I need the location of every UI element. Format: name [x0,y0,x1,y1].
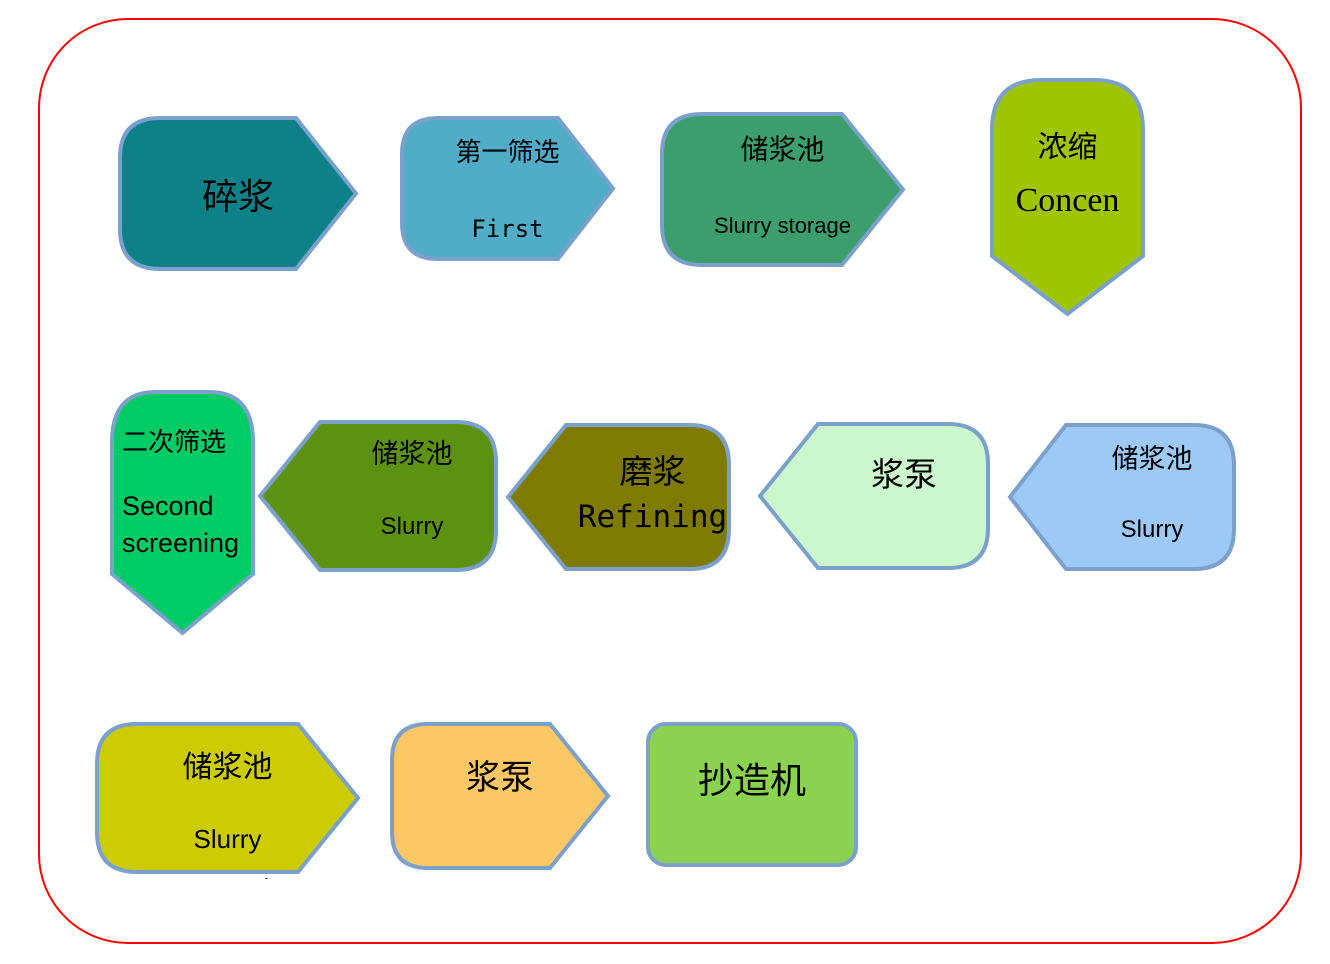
slurry-storage-4-shape [95,722,360,874]
node-second-screening[interactable]: 二次筛选 Second screening [110,390,255,635]
refining-shape [506,423,731,571]
node-slurry-storage-3[interactable]: 储浆池 Slurry [1008,423,1236,571]
paper-machine-shape [646,722,858,867]
second-screening-shape [110,390,255,635]
first-screening-shape [400,116,615,261]
node-slurry-storage-2[interactable]: 储浆池 Slurry [258,420,498,572]
pulping-shape [118,116,358,271]
node-slurry-storage-1[interactable]: 储浆池 Slurry storage [660,112,905,267]
pulp-pump-2-shape [390,722,610,870]
slurry-storage-1-shape [660,112,905,267]
node-pulp-pump-1[interactable]: 浆泵 [758,422,990,570]
node-refining[interactable]: 磨浆 Refining [506,423,731,571]
node-slurry-storage-4[interactable]: 储浆池 Slurry . [95,722,360,874]
node-first-screening[interactable]: 第一筛选 First [400,116,615,261]
slurry-storage-2-shape [258,420,498,572]
concentration-shape [990,78,1145,316]
node-pulping[interactable]: 碎浆 [118,116,358,271]
node-paper-machine[interactable]: 抄造机 [646,722,858,867]
diagram-canvas: 碎浆 第一筛选 First 储浆池 Slurry storage 浓缩 Conc… [0,0,1330,964]
pulp-pump-1-shape [758,422,990,570]
node-concentration[interactable]: 浓缩 Concen [990,78,1145,316]
slurry-storage-3-shape [1008,423,1236,571]
node-pulp-pump-2[interactable]: 浆泵 [390,722,610,870]
